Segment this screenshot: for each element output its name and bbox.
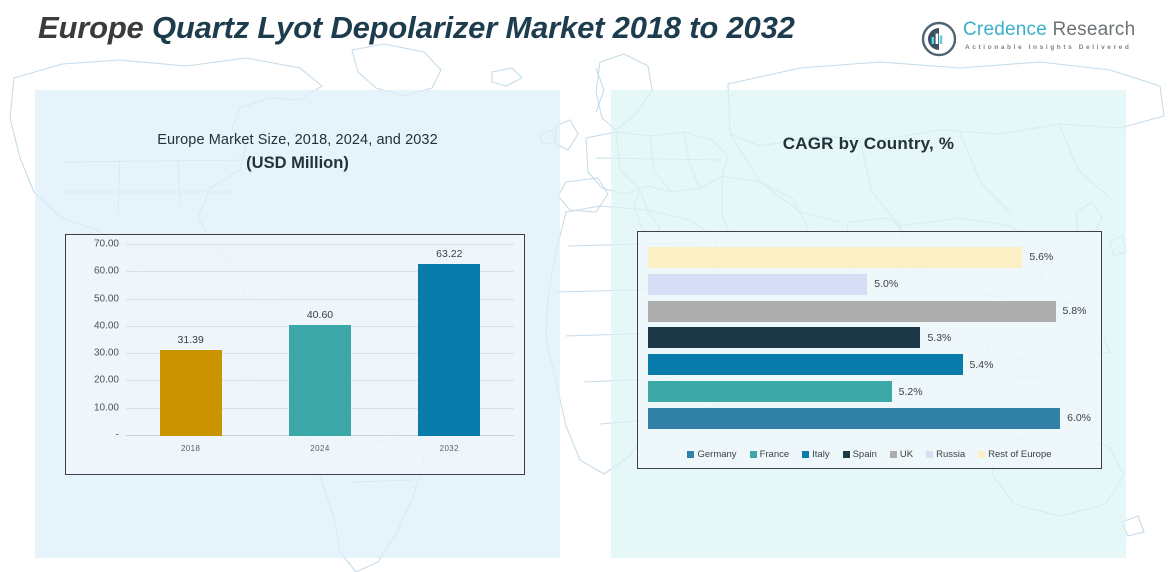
bar[interactable] [648, 381, 892, 402]
legend-swatch [802, 451, 809, 458]
logo-wordmark: Credence Research [963, 19, 1135, 41]
legend-swatch [687, 451, 694, 458]
y-axis-tick-label: - [116, 430, 119, 441]
bar-row: 5.6% [648, 246, 1091, 268]
legend-swatch [978, 451, 985, 458]
y-axis-tick-label: 70.00 [94, 239, 119, 250]
legend-swatch [750, 451, 757, 458]
bar[interactable] [160, 350, 222, 436]
bar-value-label: 31.39 [178, 334, 204, 346]
europe-market-size-chart: 70.0060.0050.0040.0030.0020.0010.00- 31.… [65, 234, 525, 475]
bar-value-label: 5.3% [927, 332, 951, 344]
y-axis-tick-label: 20.00 [94, 375, 119, 386]
legend-item[interactable]: Rest of Europe [978, 449, 1051, 460]
bar[interactable] [648, 247, 1022, 268]
x-axis-label: 2018 [126, 444, 255, 460]
bar-group: 40.60 [255, 245, 384, 436]
legend-swatch [890, 451, 897, 458]
bar-group: 63.22 [385, 245, 514, 436]
x-axis-labels: 201820242032 [126, 444, 514, 460]
bar[interactable] [289, 325, 351, 436]
bar-value-label: 5.0% [874, 278, 898, 290]
legend-label: France [760, 449, 790, 460]
legend-item[interactable]: UK [890, 449, 913, 460]
legend-label: Rest of Europe [988, 449, 1051, 460]
bar[interactable] [418, 264, 480, 437]
legend-item[interactable]: Germany [687, 449, 736, 460]
vertical-bar-plot-area: 70.0060.0050.0040.0030.0020.0010.00- 31.… [126, 245, 514, 436]
legend-item[interactable]: Russia [926, 449, 965, 460]
legend-label: UK [900, 449, 913, 460]
bar-value-label: 5.6% [1029, 251, 1053, 263]
bar-group: 31.39 [126, 245, 255, 436]
legend-item[interactable]: France [750, 449, 790, 460]
bar-value-label: 5.4% [970, 359, 994, 371]
bar[interactable] [648, 327, 920, 348]
bar-row: 5.0% [648, 273, 1091, 295]
horizontal-bars: 5.6%5.0%5.8%5.3%5.4%5.2%6.0% [648, 244, 1091, 432]
bar-row: 5.2% [648, 381, 1091, 403]
bar-value-label: 63.22 [436, 248, 462, 260]
legend-item[interactable]: Spain [843, 449, 877, 460]
chart-legend: GermanyFranceItalySpainUKRussiaRest of E… [638, 449, 1101, 460]
x-axis-label: 2032 [385, 444, 514, 460]
page-title-lead: Europe [38, 10, 152, 45]
y-axis-tick-label: 60.00 [94, 266, 119, 277]
cagr-by-country-chart: 5.6%5.0%5.8%5.3%5.4%5.2%6.0% GermanyFran… [637, 231, 1102, 469]
bar-value-label: 5.2% [899, 386, 923, 398]
logo-tagline: Actionable Insights Delivered [965, 44, 1131, 51]
y-axis-tick-label: 10.00 [94, 402, 119, 413]
legend-item[interactable]: Italy [802, 449, 829, 460]
y-axis-tick-label: 30.00 [94, 348, 119, 359]
bar-value-label: 6.0% [1067, 412, 1091, 424]
legend-label: Germany [697, 449, 736, 460]
bar[interactable] [648, 408, 1060, 429]
page-title-rest: Quartz Lyot Depolarizer Market 2018 to 2… [152, 10, 795, 45]
vertical-bars: 31.3940.6063.22 [126, 245, 514, 436]
logo-name-research: Research [1047, 19, 1135, 40]
bar-row: 6.0% [648, 407, 1091, 429]
bar-row: 5.8% [648, 300, 1091, 322]
legend-swatch [843, 451, 850, 458]
bar[interactable] [648, 274, 867, 295]
header: Europe Quartz Lyot Depolarizer Market 20… [0, 0, 1172, 92]
bar[interactable] [648, 354, 963, 375]
bar-value-label: 40.60 [307, 309, 333, 321]
logo-name-credence: Credence [963, 19, 1047, 40]
credence-research-logo[interactable]: Credence Research Actionable Insights De… [921, 19, 1111, 63]
y-axis-tick-label: 40.00 [94, 320, 119, 331]
bar[interactable] [648, 301, 1056, 322]
right-panel-title: CAGR by Country, % [611, 134, 1126, 154]
legend-label: Russia [936, 449, 965, 460]
bar-row: 5.4% [648, 354, 1091, 376]
bar-value-label: 5.8% [1063, 305, 1087, 317]
legend-label: Spain [853, 449, 877, 460]
bar-chart-circle-icon [921, 21, 957, 57]
left-panel-title-line2: (USD Million) [35, 154, 560, 173]
y-axis-tick-label: 50.00 [94, 293, 119, 304]
legend-swatch [926, 451, 933, 458]
legend-label: Italy [812, 449, 829, 460]
left-panel-title-line1: Europe Market Size, 2018, 2024, and 2032 [35, 132, 560, 148]
x-axis-label: 2024 [255, 444, 384, 460]
page-title: Europe Quartz Lyot Depolarizer Market 20… [38, 8, 878, 49]
bar-row: 5.3% [648, 327, 1091, 349]
